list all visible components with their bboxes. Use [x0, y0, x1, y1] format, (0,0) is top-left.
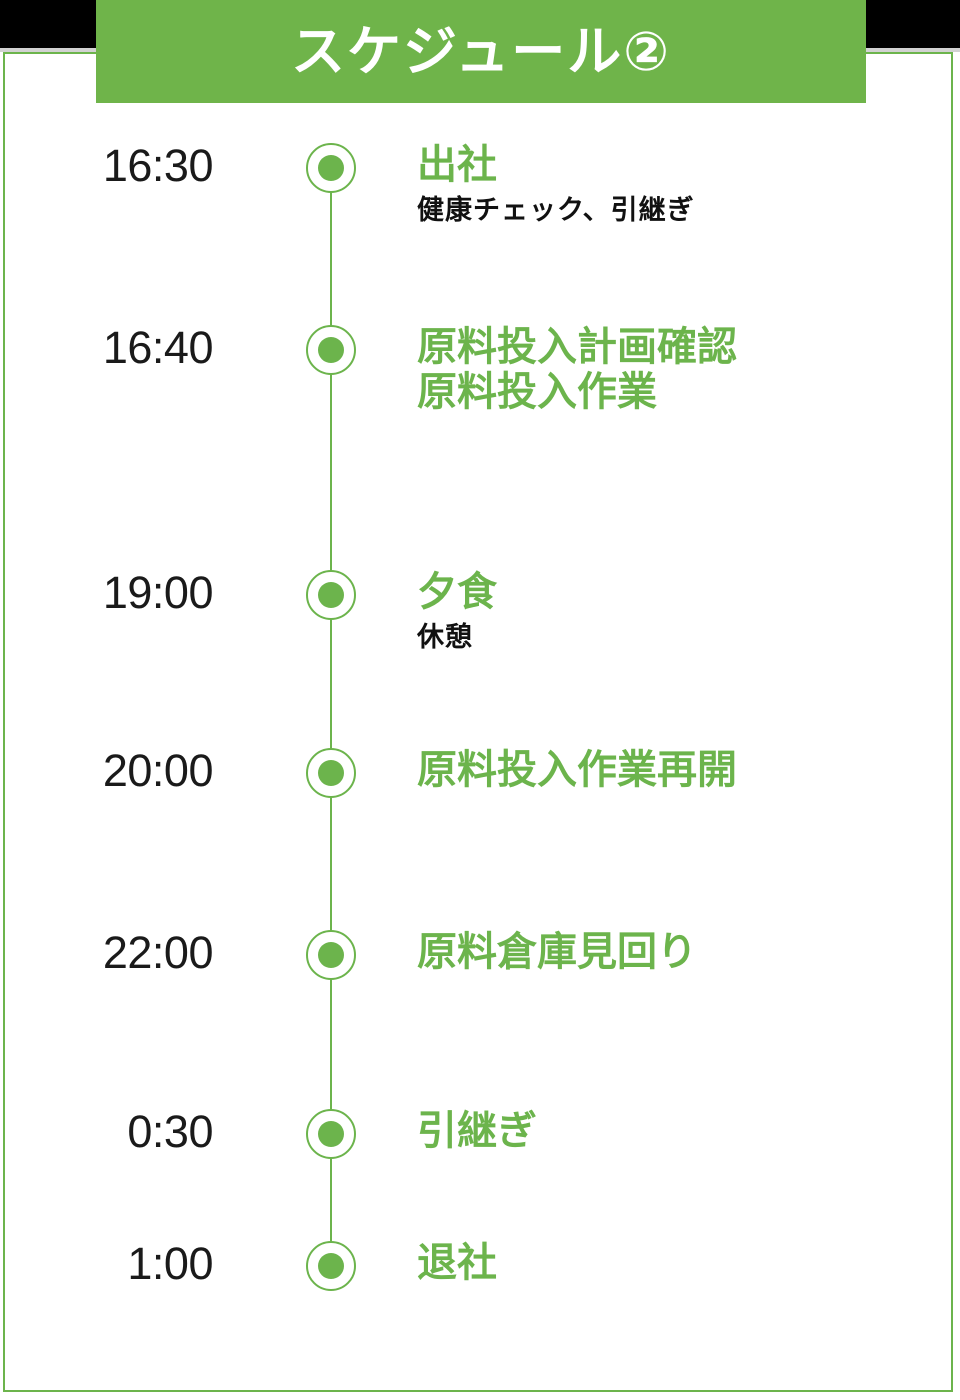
entry-body: 原料投入計画確認原料投入作業 — [417, 325, 937, 415]
entry-title: 原料倉庫見回り — [417, 930, 937, 975]
schedule-timeline: 16:30出社健康チェック、引継ぎ16:40原料投入計画確認原料投入作業19:0… — [0, 103, 960, 1400]
entry-time: 0:30 — [40, 1109, 213, 1154]
timeline-marker-icon — [306, 143, 356, 193]
entry-title: 退社 — [417, 1241, 937, 1286]
entry-title-line2: 原料投入作業 — [417, 370, 937, 415]
timeline-marker-dot-icon — [318, 1253, 344, 1279]
timeline-marker-icon — [306, 1241, 356, 1291]
entry-subtitle: 健康チェック、引継ぎ — [417, 194, 937, 226]
entry-time: 19:00 — [40, 570, 213, 615]
entry-body: 原料倉庫見回り — [417, 930, 937, 975]
entry-title: 原料投入計画確認 — [417, 325, 937, 370]
entry-body: 原料投入作業再開 — [417, 748, 937, 793]
entry-title: 出社 — [417, 143, 937, 188]
entry-body: 引継ぎ — [417, 1109, 937, 1154]
page-title: スケジュール② — [291, 25, 671, 79]
timeline-marker-dot-icon — [318, 155, 344, 181]
timeline-marker-icon — [306, 748, 356, 798]
entry-time: 1:00 — [40, 1241, 213, 1286]
timeline-marker-dot-icon — [318, 1121, 344, 1147]
timeline-marker-dot-icon — [318, 337, 344, 363]
entry-title: 夕食 — [417, 570, 937, 615]
timeline-marker-dot-icon — [318, 942, 344, 968]
entry-body: 退社 — [417, 1241, 937, 1286]
top-black-bar-right — [866, 0, 960, 48]
entry-body: 夕食休憩 — [417, 570, 937, 653]
entry-title: 引継ぎ — [417, 1109, 937, 1154]
timeline-marker-icon — [306, 1109, 356, 1159]
entry-time: 20:00 — [40, 748, 213, 793]
schedule-page: スケジュール② 16:30出社健康チェック、引継ぎ16:40原料投入計画確認原料… — [0, 0, 960, 1400]
header-band: スケジュール② — [96, 0, 866, 103]
timeline-marker-icon — [306, 930, 356, 980]
timeline-marker-dot-icon — [318, 760, 344, 786]
entry-title: 原料投入作業再開 — [417, 748, 937, 793]
top-black-bar-left — [0, 0, 96, 48]
entry-time: 16:40 — [40, 325, 213, 370]
timeline-marker-dot-icon — [318, 582, 344, 608]
entry-subtitle: 休憩 — [417, 621, 937, 653]
entry-body: 出社健康チェック、引継ぎ — [417, 143, 937, 226]
timeline-marker-icon — [306, 325, 356, 375]
timeline-marker-icon — [306, 570, 356, 620]
entry-time: 22:00 — [40, 930, 213, 975]
entry-time: 16:30 — [40, 143, 213, 188]
